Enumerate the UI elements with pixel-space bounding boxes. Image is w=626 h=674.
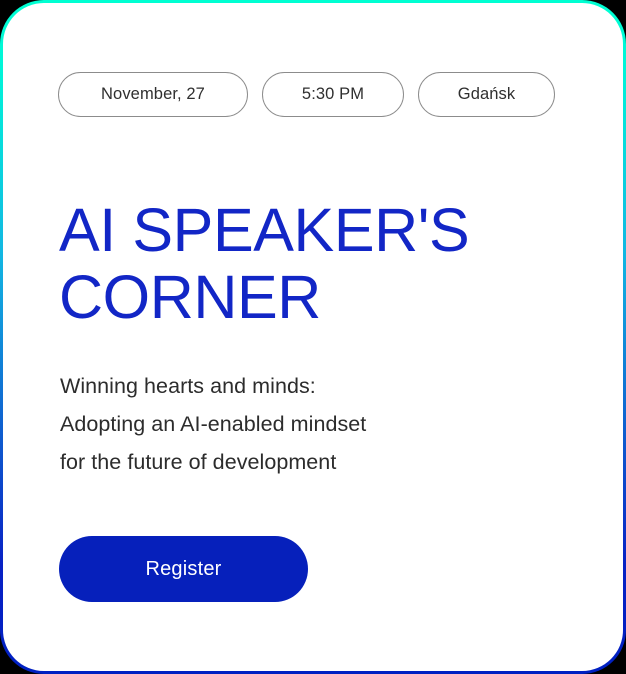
- event-title: AI SPEAKER'S CORNER: [59, 197, 529, 331]
- event-card-body: November, 27 5:30 PM Gdańsk AI SPEAKER'S…: [3, 3, 623, 671]
- event-meta-row: November, 27 5:30 PM Gdańsk: [58, 72, 555, 117]
- event-location-pill: Gdańsk: [418, 72, 555, 117]
- event-card: November, 27 5:30 PM Gdańsk AI SPEAKER'S…: [0, 0, 626, 674]
- event-time-pill: 5:30 PM: [262, 72, 404, 117]
- event-date-pill: November, 27: [58, 72, 248, 117]
- event-subtitle: Winning hearts and minds: Adopting an AI…: [60, 367, 520, 481]
- register-button[interactable]: Register: [59, 536, 308, 602]
